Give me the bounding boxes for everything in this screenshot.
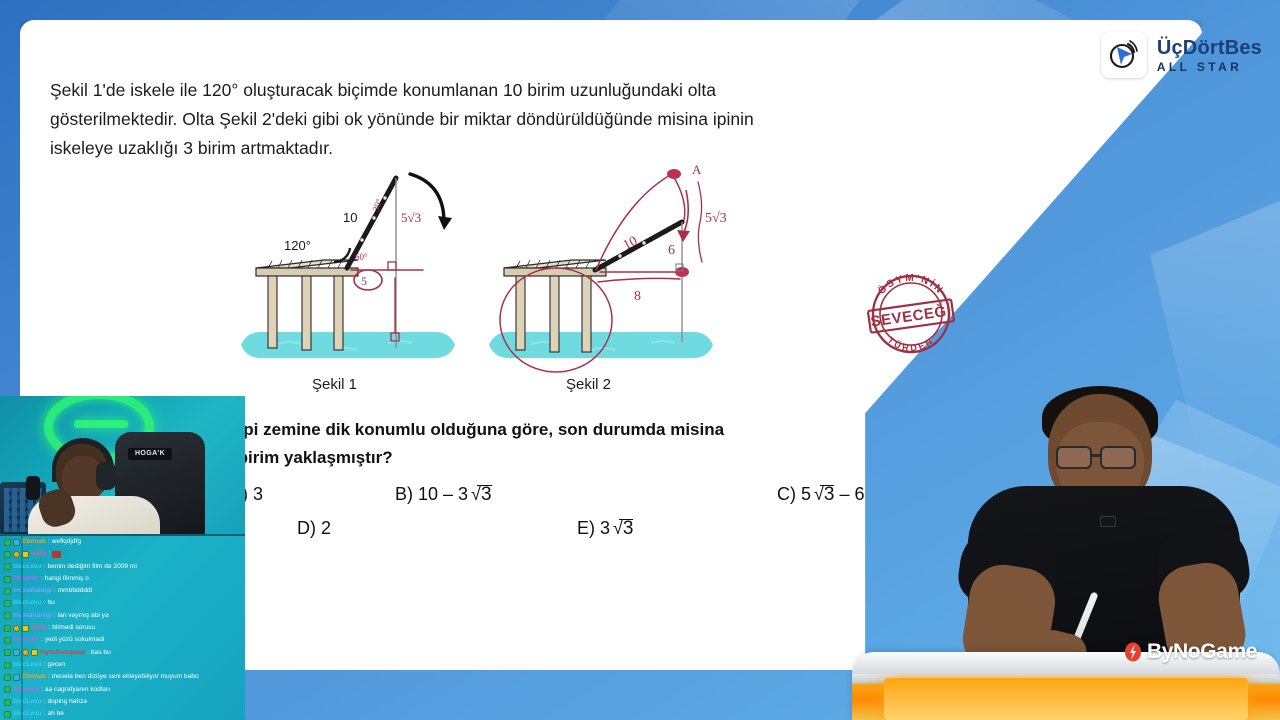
question-line-1: Şekil 1'de iskele ile 120° oluşturacak b… (50, 76, 850, 105)
chat-separator: : (48, 671, 50, 683)
teacher-glasses-bridge (1091, 454, 1101, 457)
chat-message-text: aa cagrafyanın kodları (45, 684, 110, 696)
chat-username[interactable]: blacLevu (13, 708, 42, 720)
chat-username[interactable]: blacLevu (13, 696, 42, 708)
svg-text:A: A (692, 162, 702, 177)
chat-username[interactable]: blacLevu (13, 561, 42, 573)
chat-message: blacLevu:bu (0, 597, 245, 609)
svg-text:8: 8 (634, 289, 641, 304)
question-line-2: gösterilmektedir. Olta Şekil 2'deki gibi… (50, 105, 850, 134)
chat-message-text: lan vaymış abi ya (58, 610, 109, 622)
option-b-radical: √3 (468, 484, 491, 506)
figure-2-caption: Şekil 2 (566, 376, 611, 393)
chat-badge-blue-icon (13, 649, 20, 656)
chat-username[interactable]: Iralia (31, 622, 46, 634)
option-b-label: B) 10 – 3 (395, 484, 468, 504)
chat-badge-yellow-icon (22, 551, 29, 558)
brand-logo: ÜçDörtBes ALL STAR (1101, 32, 1262, 78)
teacher-microphone (1100, 516, 1116, 527)
chat-badge-green-icon (4, 637, 11, 644)
chat-badge-yellow-icon (22, 625, 29, 632)
answer-options: A) 3 B) 10 – 3√3 C) 5√3– 6 D) 2 E) 3√3 (180, 478, 900, 548)
chat-message: blacLevu:gecen (0, 659, 245, 671)
chat-badge-green-icon (4, 612, 11, 619)
question-tail-line-2: ne kaç birim yaklaşmıştır? (180, 444, 880, 472)
option-c[interactable]: C) 5√3– 6 (777, 484, 865, 506)
chat-badge-blue-icon (13, 674, 20, 681)
chat-username[interactable]: Ilowenix (13, 573, 39, 585)
chat-badge-star-icon (13, 551, 20, 558)
svg-text:6: 6 (668, 243, 675, 258)
chat-message-text: yedi yüzü sokulmadi (45, 634, 104, 646)
option-e-radical: √3 (610, 518, 633, 540)
chat-badge-green-icon (4, 686, 11, 693)
figure-2-graphic: A 5√3 6 8 10 (489, 162, 727, 372)
chat-message-text: bas bu (91, 647, 111, 659)
bynogame-icon (1124, 642, 1142, 662)
chat-emote-icon (52, 551, 61, 558)
svg-text:120°: 120° (284, 238, 311, 253)
chat-username[interactable]: mustafabilgi (13, 610, 52, 622)
chat-username[interactable]: Iralia (31, 548, 46, 560)
neon-logo-bar-icon (74, 420, 128, 428)
chat-separator: : (41, 634, 43, 646)
chat-message: Ebonak:wefkjdjdfg (0, 536, 245, 548)
chat-badge-green-icon (4, 539, 11, 546)
chat-separator: : (44, 696, 46, 708)
option-b[interactable]: B) 10 – 3√3 (395, 484, 492, 506)
chat-message-list: Ebonak:wefkjdjdfgIralia:blacLevu:benim d… (0, 536, 245, 720)
chat-separator: : (44, 659, 46, 671)
chat-message: blacLevu:ah be (0, 708, 245, 720)
option-d-label: D) 2 (297, 518, 331, 538)
chat-badge-green-icon (4, 600, 11, 607)
chat-badge-green-icon (4, 662, 11, 669)
chat-badge-star-icon (13, 625, 20, 632)
chat-separator: : (54, 585, 56, 597)
chat-badge-yellow-icon (31, 649, 38, 656)
chat-message-text: bitmedi sorusu (52, 622, 95, 634)
chat-separator: : (44, 597, 46, 609)
chat-message: mustafabilgi:lan vaymış abi ya (0, 610, 245, 622)
teacher-glasses-right (1100, 446, 1136, 469)
chat-message-text: mmbbddddi (58, 585, 92, 597)
option-e-label: E) 3 (577, 518, 610, 538)
svg-text:10: 10 (621, 234, 640, 254)
desk-led-glow (884, 678, 1248, 720)
chat-message: Ebonak:mesela ben dizüye seni ekleyebili… (0, 671, 245, 683)
question-tail: misina ipi zemine dik konumlu olduğuna g… (180, 416, 880, 471)
svg-text:10: 10 (343, 210, 357, 225)
chat-message: Iralia: (0, 548, 245, 560)
chat-badge-green-icon (4, 625, 11, 632)
chat-message-text: benim dediğim film de 2009 mi (47, 561, 136, 573)
option-c-radical: √3 (811, 484, 834, 506)
chat-username[interactable]: mustafabilgi (13, 585, 52, 597)
chat-badge-green-icon (4, 576, 11, 583)
svg-text:TÜRDEN: TÜRDEN (886, 335, 937, 353)
chat-message-text: ah be (47, 708, 64, 720)
option-c-label: C) 5 (777, 484, 811, 504)
chat-username[interactable]: Ilowenix (13, 634, 39, 646)
chat-separator: : (44, 708, 46, 720)
chat-message-text: bu (47, 597, 54, 609)
brand-name: ÜçDörtBes (1157, 38, 1262, 58)
chat-separator: : (48, 536, 50, 548)
chat-badge-star-icon (22, 649, 29, 656)
chat-username[interactable]: GyroCompass (40, 647, 85, 659)
chat-username[interactable]: Ebonak (22, 536, 46, 548)
chat-badge-green-icon (4, 588, 11, 595)
chat-message: mustafabilgi:mmbbddddi (0, 585, 245, 597)
svg-text:60°: 60° (355, 252, 368, 262)
chat-message: blacLevu:benim dediğim film de 2009 mi (0, 561, 245, 573)
option-e[interactable]: E) 3√3 (577, 518, 633, 540)
chat-panel[interactable]: Ebonak:wefkjdjdfgIralia:blacLevu:benim d… (0, 536, 245, 720)
brand-subtitle: ALL STAR (1157, 61, 1262, 73)
chat-separator: : (41, 684, 43, 696)
chat-message: Iralia:bitmedi sorusu (0, 622, 245, 634)
chat-badge-green-icon (4, 711, 11, 718)
option-c-suffix: – 6 (839, 484, 864, 504)
option-d[interactable]: D) 2 (297, 518, 331, 539)
chat-message-text: mesela ben dizüye seni ekleyebiliyor muy… (52, 671, 199, 683)
chat-separator: : (48, 622, 50, 634)
figure-1-caption: Şekil 1 (312, 376, 357, 393)
chat-badge-blue-icon (13, 539, 20, 546)
chat-username[interactable]: Ebonak (22, 671, 46, 683)
figure-1-graphic: 5 5√3 30° 60° 120° 10 (241, 174, 455, 358)
svg-text:5: 5 (361, 274, 367, 288)
chat-separator: : (41, 573, 43, 585)
chat-separator: : (87, 647, 89, 659)
svg-text:ÖSYM'NİN: ÖSYM'NİN (875, 273, 946, 297)
svg-text:5√3: 5√3 (705, 211, 727, 226)
chat-badge-green-icon (4, 674, 11, 681)
chat-message: GyroCompass:bas bu (0, 647, 245, 659)
chair-brand-label: HOGA'K (128, 448, 172, 460)
chat-badge-green-icon (4, 563, 11, 570)
chat-message: blacLevu:doping hafıza (0, 696, 245, 708)
bynogame-watermark: ByNoGame (1124, 640, 1257, 664)
question-text: Şekil 1'de iskele ile 120° oluşturacak b… (50, 76, 850, 164)
chat-divider (21, 536, 23, 720)
chat-username[interactable]: Ilowenix (13, 684, 39, 696)
headset-earcup (96, 462, 116, 490)
chat-message: Ilowenix:aa cagrafyanın kodları (0, 684, 245, 696)
streamer-webcam[interactable]: HOGA'K (0, 396, 245, 536)
svg-text:5√3: 5√3 (401, 210, 421, 225)
chat-separator: : (54, 610, 56, 622)
chat-message-text: doping hafıza (47, 696, 87, 708)
teacher-glasses-left (1056, 446, 1092, 469)
chat-separator: : (44, 561, 46, 573)
osym-stamp: ÖSYM'NİN TÜRDEN SEVECEĞİ (862, 272, 960, 356)
chat-separator: : (48, 548, 50, 560)
figures-svg: 5 5√3 30° 60° 120° 10 (238, 160, 758, 400)
chat-badge-green-icon (4, 699, 11, 706)
chat-username[interactable]: blacLevu (13, 597, 42, 609)
figures-area: 5 5√3 30° 60° 120° 10 (238, 160, 758, 400)
chat-message-text: wefkjdjdfg (52, 536, 81, 548)
chat-message-text: gecen (47, 659, 65, 671)
chat-badge-green-icon (4, 551, 11, 558)
chat-message: Ilowenix:hangi filmmiş o (0, 573, 245, 585)
microphone (26, 476, 40, 500)
chat-message-text: hangi filmmiş o (45, 573, 89, 585)
chat-badge-green-icon (4, 649, 11, 656)
bynogame-text: ByNoGame (1147, 640, 1257, 664)
chat-message: Ilowenix:yedi yüzü sokulmadi (0, 634, 245, 646)
cursor-logo-icon (1101, 32, 1147, 78)
chat-username[interactable]: blacLevu (13, 659, 42, 671)
question-tail-line-1: misina ipi zemine dik konumlu olduğuna g… (180, 416, 880, 444)
